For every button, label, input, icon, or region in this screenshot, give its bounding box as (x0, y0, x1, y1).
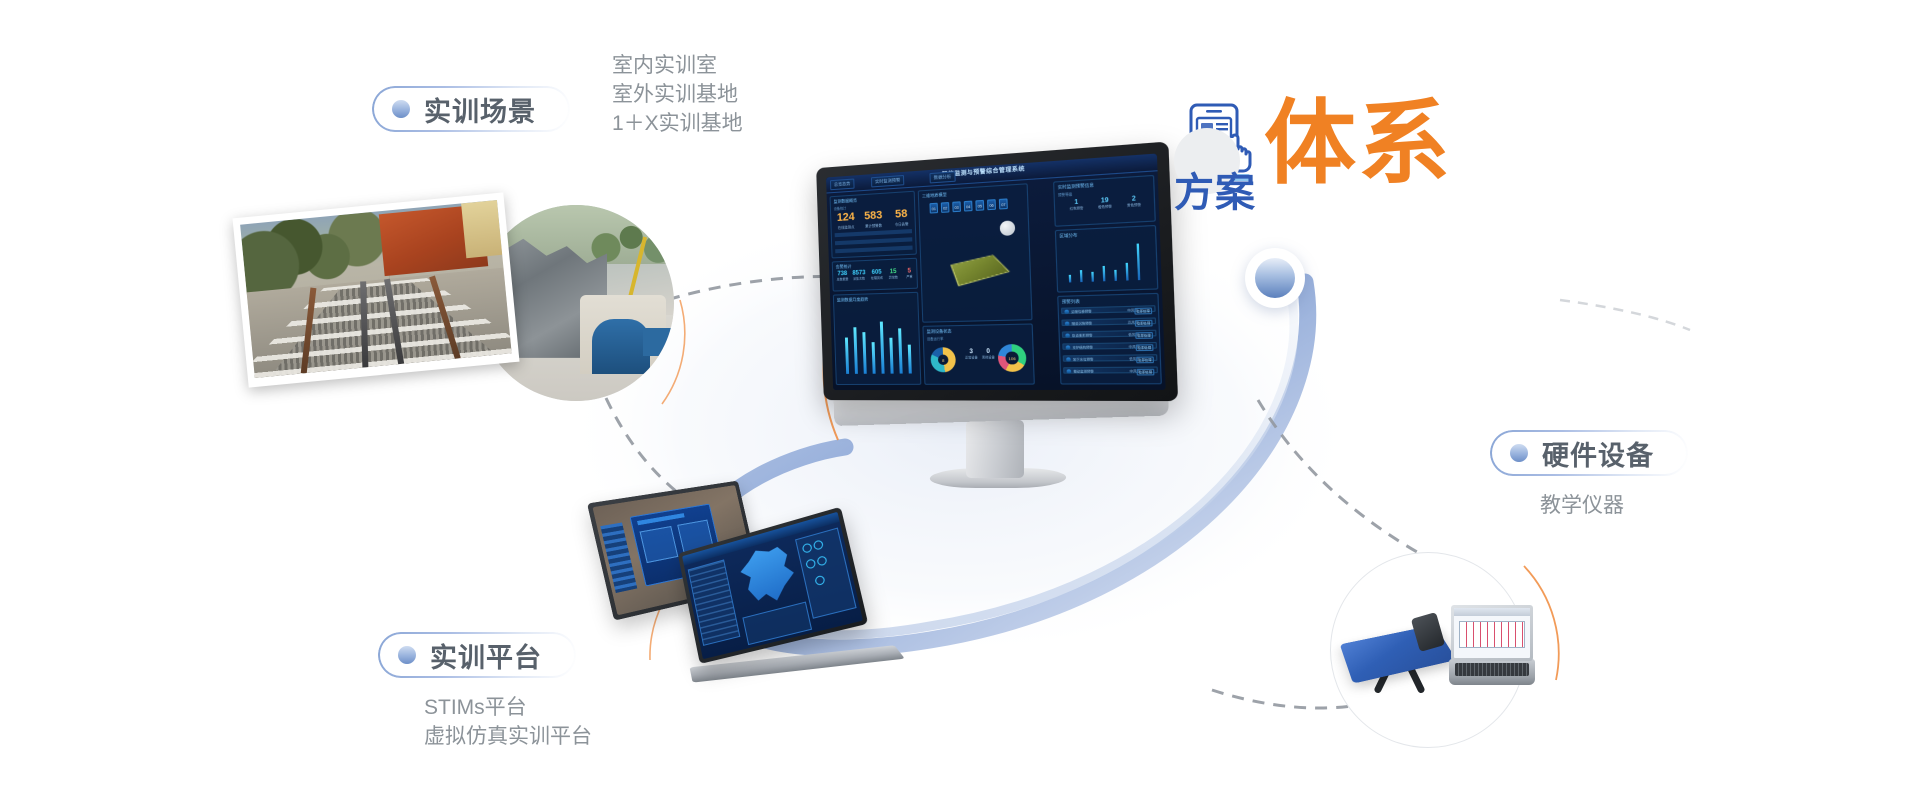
node-label-text: 实训场景 (424, 90, 536, 129)
compact-laptop-lid (1451, 605, 1533, 661)
alert-row[interactable]: 隧道沉降预警 高风险 立即处理 (1061, 317, 1156, 326)
dashboard-right-levels: 实时监测预警信息 预警等级 1 红色预警 19 橙色预警 2 黄色预警 (1053, 175, 1156, 227)
node-items-hardware: 教学仪器 (1540, 492, 1624, 521)
chart-title: 区域分布 (1059, 232, 1077, 239)
dashboard-tab-2[interactable]: 数据分析 (929, 171, 955, 183)
bar-chart-left (842, 307, 916, 373)
blue-gradient-sphere (1245, 248, 1305, 308)
headline-group: 方案 体系 (1180, 100, 1600, 220)
alert-row[interactable]: 轨道变形预警 低风险 立即处理 (1062, 330, 1157, 338)
donut-alarm-types: 106 (998, 344, 1027, 372)
monitor-bezel: 智能监测与预警综合管理系统 总览态势 实时监测预警 数据分析 监测数据概览 设备… (816, 141, 1178, 401)
node-label-platform[interactable]: 实训平台 (378, 632, 576, 678)
monitor-screen: 智能监测与预警综合管理系统 总览态势 实时监测预警 数据分析 监测数据概览 设备… (826, 153, 1166, 390)
node-item: 室外实训基地 (612, 81, 743, 110)
bar-chart-right (1065, 240, 1152, 283)
stat-0: 124 在线监测点 (833, 212, 859, 231)
blue-dot-icon (398, 646, 416, 664)
blue-dot-icon (392, 100, 410, 118)
dashboard-right-list: 预警列表 边坡位移预警 中风险 立即处理 隧道沉降预警 高风险 立即处理 (1057, 293, 1162, 385)
alert-row[interactable]: 边坡位移预警 中风险 立即处理 (1061, 305, 1156, 314)
stat-1: 583 累计预警数 (860, 210, 886, 229)
chart-title: 监测数据月度趋势 (837, 296, 868, 303)
node-label-text: 实训平台 (430, 636, 542, 675)
panel-subtitle: 设备统计 (834, 205, 847, 211)
kpi-4: 5 严重 (902, 268, 917, 279)
laptop-map-dashboard-screen (700, 548, 890, 708)
sphere-widget (999, 220, 1015, 236)
panel-title: 三维地质模型 (922, 192, 947, 200)
node-items-scene: 室内实训室 室外实训基地 1＋X实训基地 (612, 52, 743, 139)
blue-dot-icon (1510, 444, 1528, 462)
dashboard-left-overview: 监测数据概览 设备统计 124 在线监测点 583 累计预警数 58 今日告警 (830, 191, 917, 259)
desktop-monitor-dashboard: 智能监测与预警综合管理系统 总览态势 实时监测预警 数据分析 监测数据概览 设备… (820, 168, 1170, 498)
stat-2: 58 今日告警 (888, 208, 915, 227)
alert-row[interactable]: 支护结构预警 中风险 立即处理 (1062, 342, 1157, 350)
headline-prefix: 方案 (1174, 160, 1256, 218)
right-kpi-2: 2 黄色预警 (1121, 195, 1147, 208)
node-item: 教学仪器 (1540, 492, 1624, 521)
compact-laptop-waveform-screen (1454, 608, 1530, 658)
alert-row[interactable]: 振动监测预警 中风险 立即处理 (1063, 366, 1158, 373)
dashboard-left-chart: 监测数据月度趋势 (833, 292, 922, 385)
railway-track-photo (232, 192, 519, 387)
alert-row[interactable]: 地下水位预警 低风险 立即处理 (1063, 354, 1158, 362)
panel-title: 预警列表 (1062, 298, 1080, 305)
headline-main: 体系 (1264, 98, 1452, 190)
right-kpi-1: 19 橙色预警 (1092, 197, 1118, 209)
panel-title: 监测设备状态 (927, 328, 952, 335)
kpi-3: 15 异常数 (886, 269, 900, 280)
donut-gauge: 8 (930, 347, 956, 372)
node-item: 室内实训室 (612, 52, 743, 81)
dashboard-center-bottom: 监测设备状态 设备运行率 8 3 正常设备 0 离线设备 (922, 323, 1034, 384)
node-item: 虚拟仿真实训平台 (424, 723, 592, 752)
node-items-platform: STIMs平台 虚拟仿真实训平台 (424, 694, 592, 752)
center-icon-1: 0 离线设备 (981, 349, 996, 360)
poster-canvas: 方案 体系 智能监测与预警综合管理系统 总览态势 实时监测预警 (0, 0, 1920, 800)
dashboard-root: 智能监测与预警综合管理系统 总览态势 实时监测预警 数据分析 监测数据概览 设备… (826, 153, 1166, 390)
node-item: STIMs平台 (424, 694, 592, 723)
hardware-device-circle (1330, 552, 1526, 748)
node-label-hardware[interactable]: 硬件设备 (1490, 430, 1688, 476)
compact-laptop-keyboard (1455, 663, 1529, 676)
dashboard-right-chart: 区域分布 (1055, 225, 1159, 293)
node-item: 1＋X实训基地 (612, 110, 743, 139)
right-kpi-0: 1 红色预警 (1064, 199, 1089, 211)
dashboard-tab-0[interactable]: 总览态势 (830, 179, 854, 191)
panel-title: 告警统计 (836, 264, 852, 271)
panel-title: 监测数据概览 (834, 198, 858, 206)
terrain-model (950, 255, 1009, 286)
node-label-scene[interactable]: 实训场景 (372, 86, 570, 132)
kpi-2: 605 处理完成 (869, 269, 884, 280)
center-icon-0: 3 正常设备 (964, 349, 979, 360)
dashboard-center-model: 三维地质模型 01 02 03 04 05 06 07 (918, 183, 1033, 322)
kpi-1: 8573 采集次数 (850, 270, 867, 281)
panel-title: 实时监测预警信息 (1058, 182, 1094, 191)
node-label-text: 硬件设备 (1542, 434, 1654, 473)
monitor-neck (966, 420, 1024, 478)
kpi-0: 738 总数据量 (835, 271, 850, 282)
dashboard-left-kpis: 告警统计 738 总数据量 8573 采集次数 605 处理完成 (832, 258, 918, 292)
